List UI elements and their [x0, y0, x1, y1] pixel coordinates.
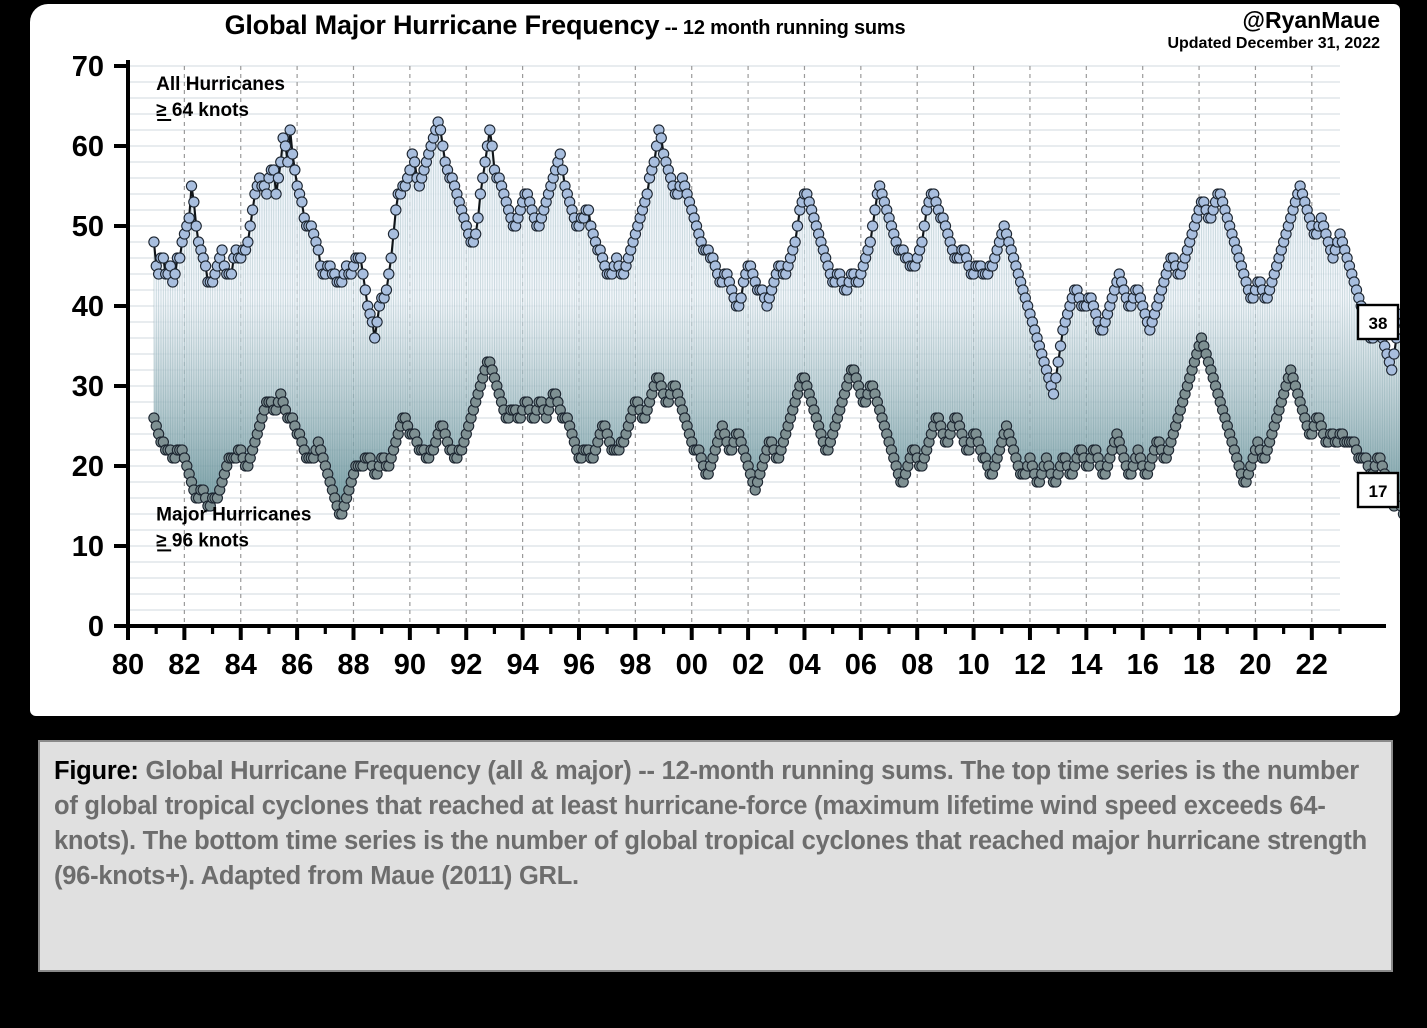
y-tick-label: 20 — [72, 451, 104, 483]
all-hurricanes-label-threshold: ≥ 64 knots — [156, 100, 249, 121]
x-tick-label: 20 — [1239, 649, 1271, 681]
x-tick-label: 04 — [788, 649, 820, 681]
major-hurricanes-end-value: 17 — [1369, 482, 1388, 501]
major-hurricanes-label-threshold: ≥ 96 knots — [156, 530, 249, 551]
x-tick-label: 84 — [225, 649, 257, 681]
figure-caption-box: Figure: Global Hurricane Frequency (all … — [38, 740, 1393, 972]
x-tick-label: 82 — [168, 649, 200, 681]
hurricane-frequency-plot: 010203040506070 808284868890929496980002… — [30, 4, 1400, 716]
x-tick-label: 16 — [1127, 649, 1159, 681]
y-tick-label: 40 — [72, 291, 104, 323]
x-tick-label: 08 — [901, 649, 933, 681]
figure-caption-text: Figure: Global Hurricane Frequency (all … — [54, 754, 1377, 894]
x-tick-label: 88 — [337, 649, 369, 681]
figure-caption-lead: Figure: — [54, 757, 139, 785]
y-tick-label: 10 — [72, 531, 104, 563]
x-tick-label: 22 — [1296, 649, 1328, 681]
y-tick-label: 50 — [72, 211, 104, 243]
major-hurricanes-label: Major Hurricanes — [156, 504, 311, 525]
screenshot-root: Global Major Hurricane Frequency -- 12 m… — [0, 0, 1427, 1028]
x-tick-label: 90 — [394, 649, 426, 681]
all-hurricanes-end-value: 38 — [1369, 314, 1388, 333]
chart-card: Global Major Hurricane Frequency -- 12 m… — [30, 4, 1400, 716]
y-tick-label: 0 — [88, 611, 104, 643]
figure-caption-body: Global Hurricane Frequency (all & major)… — [54, 757, 1367, 890]
x-tick-label: 06 — [845, 649, 877, 681]
x-tick-label: 96 — [563, 649, 595, 681]
x-tick-label: 14 — [1070, 649, 1102, 681]
x-tick-label: 02 — [732, 649, 764, 681]
x-tick-label: 80 — [112, 649, 144, 681]
x-tick-label: 00 — [676, 649, 708, 681]
x-tick-label: 98 — [619, 649, 651, 681]
y-axis-tick-labels: 010203040506070 — [72, 51, 104, 643]
y-tick-label: 60 — [72, 131, 104, 163]
y-tick-label: 70 — [72, 51, 104, 83]
all-hurricanes-label: All Hurricanes — [156, 74, 285, 95]
x-tick-label: 12 — [1014, 649, 1046, 681]
y-tick-label: 30 — [72, 371, 104, 403]
x-tick-label: 94 — [506, 649, 538, 681]
x-axis-tick-labels: 8082848688909294969800020406081012141618… — [112, 649, 1328, 681]
x-tick-label: 92 — [450, 649, 482, 681]
x-tick-label: 86 — [281, 649, 313, 681]
x-tick-label: 18 — [1183, 649, 1215, 681]
x-tick-label: 10 — [957, 649, 989, 681]
